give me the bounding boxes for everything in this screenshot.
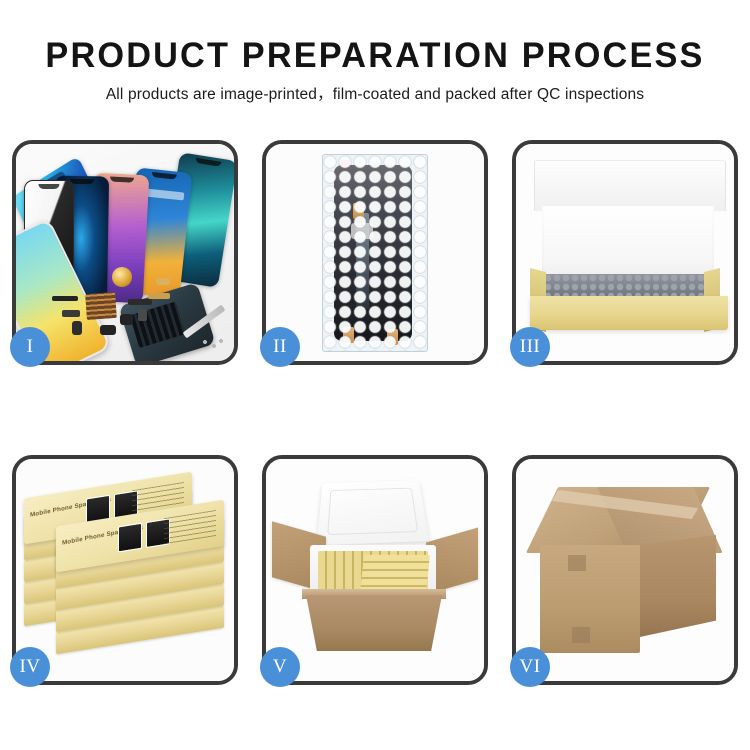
ribbon-cable-part bbox=[128, 299, 152, 305]
process-step-card-2[interactable]: II bbox=[262, 140, 488, 365]
earpiece-part bbox=[52, 296, 78, 301]
carton-front-panel bbox=[306, 595, 442, 651]
step-4-image: Mobile Phone Spare Parts Mobile Phone Sp… bbox=[16, 459, 234, 681]
vibration-motor-part bbox=[112, 267, 132, 287]
notch-icon bbox=[109, 176, 133, 182]
page-subtitle: All products are image-printed，film-coat… bbox=[0, 76, 750, 105]
notch-icon bbox=[152, 172, 177, 180]
carton-marking bbox=[572, 627, 590, 643]
small-part bbox=[120, 314, 133, 325]
battery-connector-part bbox=[138, 309, 147, 321]
notch-icon bbox=[70, 179, 94, 184]
screws-part bbox=[202, 339, 224, 349]
bubble-wrap-bag bbox=[322, 154, 428, 352]
carton-marking bbox=[568, 555, 586, 571]
step-3-image bbox=[516, 144, 734, 361]
process-step-card-4[interactable]: Mobile Phone Spare Parts Mobile Phone Sp… bbox=[12, 455, 238, 685]
process-step-card-5[interactable]: V bbox=[262, 455, 488, 685]
yellow-box-front bbox=[530, 296, 728, 330]
step-badge-6: VI bbox=[510, 647, 550, 687]
foam-lid bbox=[317, 480, 430, 545]
yellow-boxes-row-angled bbox=[360, 555, 430, 593]
step-6-image bbox=[516, 459, 734, 681]
step-1-image bbox=[16, 144, 234, 361]
bubble-texture bbox=[323, 155, 427, 351]
notch-icon bbox=[38, 184, 59, 189]
sim-tray-part bbox=[72, 321, 82, 335]
inner-box-lid bbox=[534, 160, 726, 211]
step-badge-2: II bbox=[260, 327, 300, 367]
step-badge-1: I bbox=[10, 327, 50, 367]
camera-module-part bbox=[62, 310, 80, 317]
box-window-graphic bbox=[118, 523, 142, 553]
page-title: PRODUCT PREPARATION PROCESS bbox=[8, 0, 743, 76]
flex-cable-part bbox=[148, 293, 170, 299]
carton-left-face bbox=[540, 545, 640, 653]
white-foam-sheet bbox=[542, 206, 714, 282]
step-badge-5: V bbox=[260, 647, 300, 687]
speaker-part bbox=[100, 325, 116, 335]
step-badge-4: IV bbox=[10, 647, 50, 687]
step-5-image bbox=[266, 459, 484, 681]
process-step-card-3[interactable]: III bbox=[512, 140, 738, 365]
process-step-grid: I II III bbox=[12, 140, 738, 688]
step-badge-3: III bbox=[510, 327, 550, 367]
carton-right-face bbox=[640, 535, 716, 637]
step-2-image bbox=[266, 144, 484, 361]
connector-board-part bbox=[85, 292, 117, 320]
box-spec-lines bbox=[164, 510, 216, 544]
gold-contact-part bbox=[156, 278, 170, 285]
process-step-card-1[interactable]: I bbox=[12, 140, 238, 365]
notch-icon bbox=[195, 158, 221, 167]
page-header: PRODUCT PREPARATION PROCESS All products… bbox=[0, 0, 750, 130]
process-step-card-6[interactable]: VI bbox=[512, 455, 738, 685]
